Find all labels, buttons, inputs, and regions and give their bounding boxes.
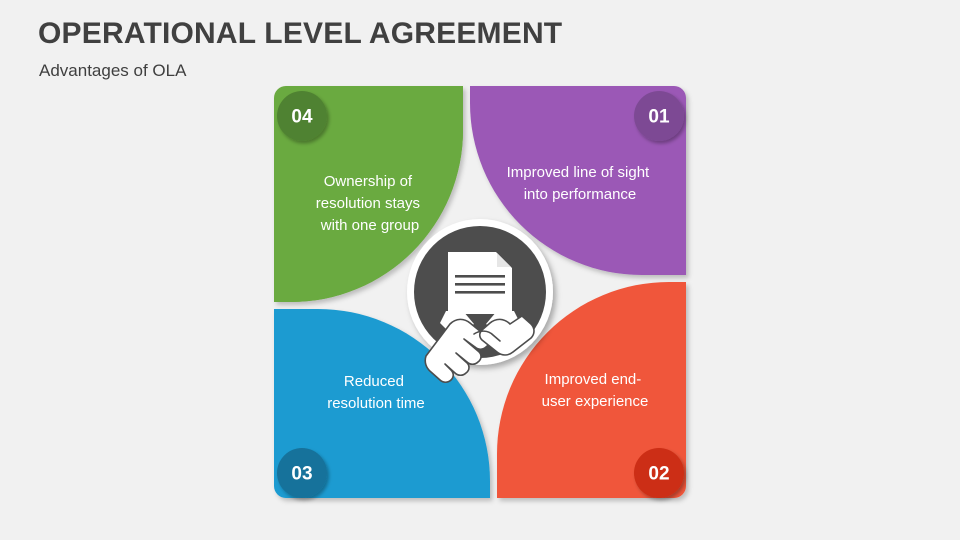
petal-04-badge-label: 04 <box>291 107 313 128</box>
petal-03-badge-label: 03 <box>291 464 312 485</box>
slide-canvas: OPERATIONAL LEVEL AGREEMENT Advantages o… <box>0 0 960 540</box>
petal-02-badge-label: 02 <box>648 464 669 485</box>
petal-04-text: Ownership of resolution stays with one g… <box>316 173 424 234</box>
petal-01-badge-label: 01 <box>648 107 670 128</box>
pinwheel-diagram: Ownership of resolution stays with one g… <box>250 62 710 522</box>
page-subtitle: Advantages of OLA <box>39 61 186 81</box>
page-title: OPERATIONAL LEVEL AGREEMENT <box>38 17 562 51</box>
